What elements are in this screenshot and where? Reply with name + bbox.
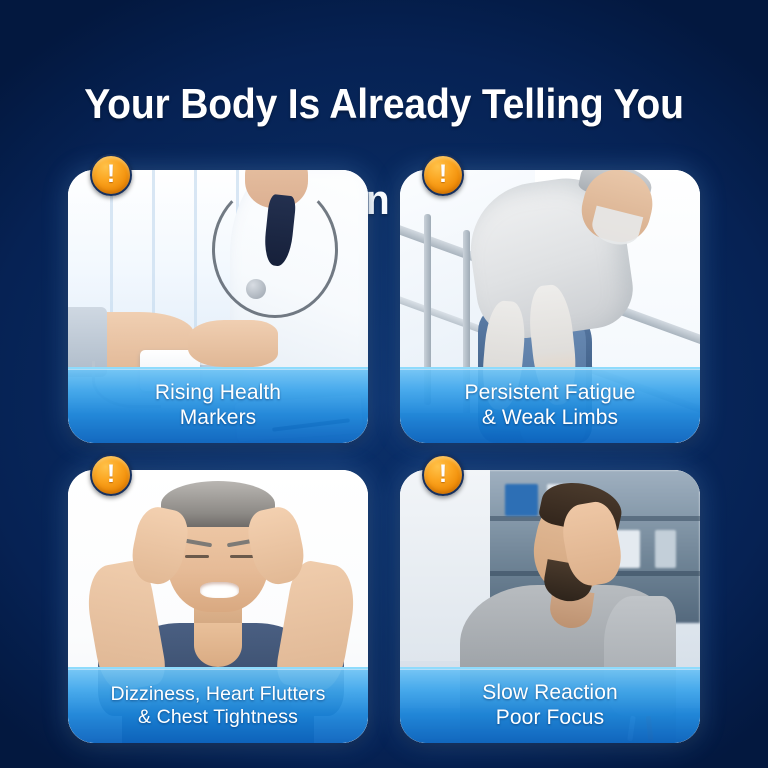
card-caption-text: Dizziness, Heart Flutters & Chest Tightn… (111, 683, 326, 729)
symptom-card-persistent-fatigue[interactable]: Persistent Fatigue & Weak Limbs ! (400, 170, 700, 443)
headline-line-1: Your Body Is Already Telling You (27, 80, 741, 128)
warning-exclamation-icon: ! (90, 454, 132, 496)
card-caption-bar: Persistent Fatigue & Weak Limbs (400, 367, 700, 443)
badge-mark: ! (107, 462, 115, 487)
badge-mark: ! (439, 462, 447, 487)
symptom-card-grid: Rising Health Markers ! (68, 170, 700, 743)
card-image-clip: Persistent Fatigue & Weak Limbs (400, 170, 700, 443)
card-caption-text: Persistent Fatigue & Weak Limbs (464, 381, 635, 430)
card-caption-bar: Slow Reaction Poor Focus (400, 667, 700, 743)
warning-exclamation-icon: ! (422, 454, 464, 496)
card-caption-text: Slow Reaction Poor Focus (482, 681, 618, 730)
card-caption-bar: Rising Health Markers (68, 367, 368, 443)
card-image-clip: Dizziness, Heart Flutters & Chest Tightn… (68, 470, 368, 743)
card-caption-text: Rising Health Markers (155, 381, 281, 430)
badge-mark: ! (439, 162, 447, 187)
symptom-card-slow-reaction-poor-focus[interactable]: Slow Reaction Poor Focus ! (400, 470, 700, 743)
card-image-clip: Rising Health Markers (68, 170, 368, 443)
warning-exclamation-icon: ! (422, 154, 464, 196)
warning-exclamation-icon: ! (90, 154, 132, 196)
card-caption-bar: Dizziness, Heart Flutters & Chest Tightn… (68, 667, 368, 743)
badge-mark: ! (107, 162, 115, 187)
symptom-card-dizziness-heart-flutters[interactable]: Dizziness, Heart Flutters & Chest Tightn… (68, 470, 368, 743)
card-image-clip: Slow Reaction Poor Focus (400, 470, 700, 743)
symptom-card-rising-health-markers[interactable]: Rising Health Markers ! (68, 170, 368, 443)
